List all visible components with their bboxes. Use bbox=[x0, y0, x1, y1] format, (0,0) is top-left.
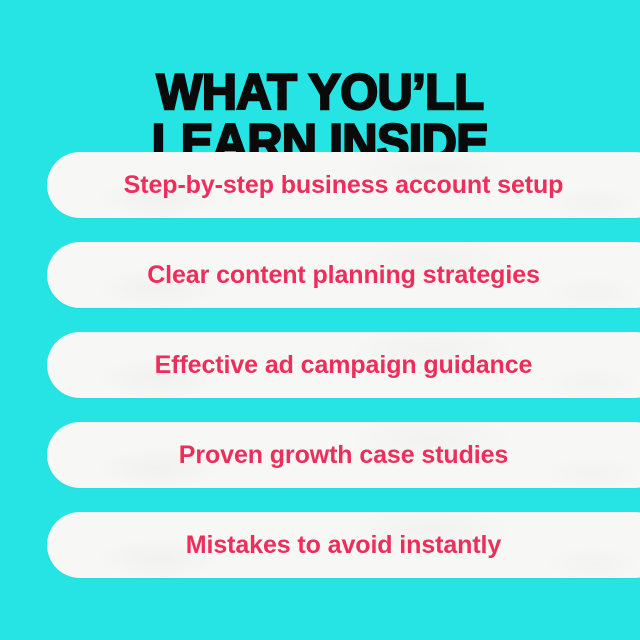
benefit-label-4: Proven growth case studies bbox=[47, 422, 640, 488]
benefit-label-5: Mistakes to avoid instantly bbox=[47, 512, 640, 578]
list-item: Effective ad campaign guidance bbox=[47, 332, 640, 398]
list-item: Proven growth case studies bbox=[47, 422, 640, 488]
benefit-label-1: Step-by-step business account setup bbox=[47, 152, 640, 218]
benefit-list: Step-by-step business account setup Clea… bbox=[0, 152, 640, 578]
benefit-label-3: Effective ad campaign guidance bbox=[47, 332, 640, 398]
benefit-label-2: Clear content planning strategies bbox=[47, 242, 640, 308]
page-title-line-1: WHAT YOU’LL bbox=[10, 70, 631, 114]
list-item: Mistakes to avoid instantly bbox=[47, 512, 640, 578]
list-item: Clear content planning strategies bbox=[47, 242, 640, 308]
poster-canvas: WHAT YOU’LL LEARN INSIDE Step-by-step bu… bbox=[0, 0, 640, 640]
page-title: WHAT YOU’LL LEARN INSIDE bbox=[10, 70, 631, 164]
list-item: Step-by-step business account setup bbox=[47, 152, 640, 218]
